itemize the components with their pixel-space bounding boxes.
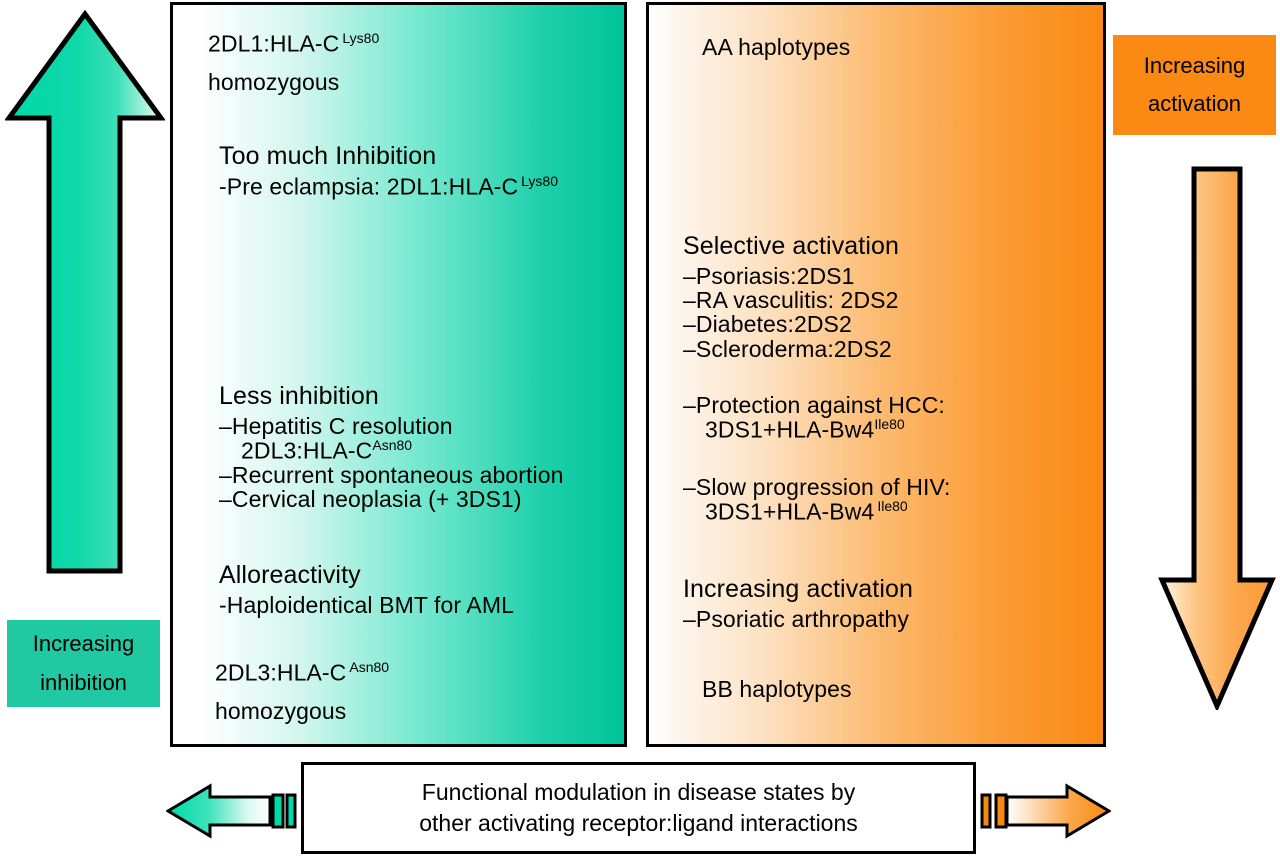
section-item-text: -Pre eclampsia: 2DL1:HLA-C [219,173,518,199]
section-item: 3DS1+HLA-Bw4Ile80 [683,417,945,442]
activation-panel: AA haplotypes Selective activation –Psor… [646,2,1106,747]
section-item: –Protection against HCC: [683,393,945,417]
section-item: –Psoriasis:2DS1 [683,264,899,288]
section-item: –Diabetes:2DS2 [683,312,899,336]
section-selective-activation: Selective activation –Psoriasis:2DS1 –RA… [683,233,899,361]
legend-inhibition-line2: inhibition [40,664,127,703]
caption-line1: Functional modulation in disease states … [422,777,855,808]
section-heading: Less inhibition [219,383,564,410]
section-item: -Pre eclampsia: 2DL1:HLA-CLys80 [219,174,558,199]
caption-box: Functional modulation in disease states … [301,762,976,854]
section-item-superscript: Ile80 [877,498,907,514]
activation-top-label: AA haplotypes [702,35,850,59]
inhibition-bottom-label-superscript: Asn80 [349,659,389,675]
legend-increasing-activation: Increasing activation [1113,35,1276,135]
section-item-text: 3DS1+HLA-Bw4 [705,499,874,525]
legend-activation-line2: activation [1148,85,1241,124]
section-item-superscript: Ile80 [874,416,904,432]
section-item-text: 2DL3:HLA-C [241,438,372,464]
legend-activation-line1: Increasing [1144,47,1246,86]
section-item: –Slow progression of HIV: [683,475,951,499]
section-item-superscript: Lys80 [521,173,558,189]
legend-increasing-inhibition: Increasing inhibition [7,620,160,707]
section-item: –Recurrent spontaneous abortion [219,463,564,487]
inhibition-top-label-text: 2DL1:HLA-C [208,31,339,57]
section-item: –RA vasculitis: 2DS2 [683,288,899,312]
inhibition-top-label-line2: homozygous [208,70,379,94]
inhibition-top-label: 2DL1:HLA-CLys80 homozygous [208,31,379,94]
section-item: –Scleroderma:2DS2 [683,337,899,361]
section-heading: Alloreactivity [219,562,514,589]
section-less-inhibition: Less inhibition –Hepatitis C resolution … [219,383,564,512]
legend-inhibition-line1: Increasing [33,625,135,664]
section-slow-progression-hiv: –Slow progression of HIV: 3DS1+HLA-Bw4Il… [683,475,951,524]
section-item: –Cervical neoplasia (+ 3DS1) [219,487,564,511]
right-arrow-icon [975,782,1111,840]
left-arrow-icon [166,782,302,840]
section-heading: Increasing activation [683,576,913,603]
inhibition-bottom-label: 2DL3:HLA-CAsn80 homozygous [215,660,389,723]
section-item-text: 3DS1+HLA-Bw4 [705,417,874,443]
section-alloreactivity: Alloreactivity -Haploidentical BMT for A… [219,562,514,617]
inhibition-top-label-superscript: Lys80 [342,30,379,46]
inhibition-panel: 2DL1:HLA-CLys80 homozygous Too much Inhi… [170,2,627,747]
section-item: 2DL3:HLA-CAsn80 [219,438,564,463]
section-increasing-activation: Increasing activation –Psoriatic arthrop… [683,576,913,631]
section-protection-hcc: –Protection against HCC: 3DS1+HLA-Bw4Ile… [683,393,945,442]
down-arrow-icon [1158,165,1276,710]
inhibition-bottom-label-text: 2DL3:HLA-C [215,660,346,686]
section-item-superscript: Asn80 [372,437,412,453]
section-item: -Haploidentical BMT for AML [219,593,514,617]
up-arrow-icon [5,10,165,575]
caption-line2: other activating receptor:ligand interac… [419,808,858,839]
section-heading: Too much Inhibition [219,143,558,170]
section-item: –Psoriatic arthropathy [683,607,913,631]
section-too-much-inhibition: Too much Inhibition -Pre eclampsia: 2DL1… [219,143,558,199]
section-heading: Selective activation [683,233,899,260]
section-item: 3DS1+HLA-Bw4Ile80 [683,499,951,524]
inhibition-bottom-label-line2: homozygous [215,699,389,723]
section-item: –Hepatitis C resolution [219,414,564,438]
activation-bottom-label: BB haplotypes [702,677,852,701]
